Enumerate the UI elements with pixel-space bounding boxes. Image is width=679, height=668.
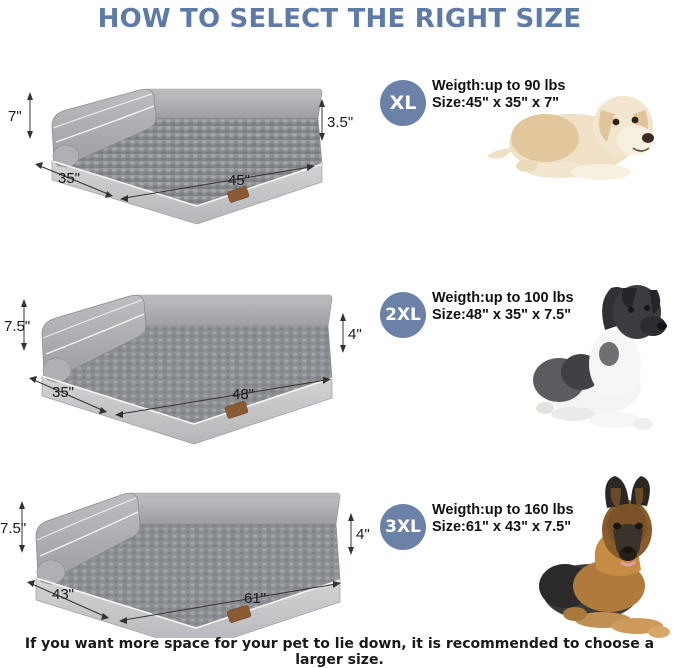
bed-diagram-3xl: 7.5" 4" 43" 61" xyxy=(0,474,372,634)
dim-height-left: 7" xyxy=(8,108,22,125)
size-spec-xl: Weigth:up to 90 lbs Size:45" x 35" x 7" xyxy=(432,78,565,112)
dimensions-text: Size:48" x 35" x 7.5" xyxy=(432,307,574,324)
bed-diagram-2xl: 7.5" 4" 35" 48" xyxy=(0,262,372,474)
bed-illustration xyxy=(14,268,354,448)
dim-width: 61" xyxy=(244,590,266,607)
dim-depth: 35" xyxy=(52,384,74,401)
size-info-2xl: 2XL Weigth:up to 100 lbs Size:48" x 35" … xyxy=(372,262,679,474)
weight-text: Weigth:up to 160 lbs xyxy=(432,502,574,519)
size-row-2xl: 7.5" 4" 35" 48" 2XL Weigth:up to xyxy=(0,262,679,474)
dim-height-left: 7.5" xyxy=(0,520,26,537)
size-info-xl: XL Weigth:up to 90 lbs Size:45" x 35" x … xyxy=(372,52,679,262)
weight-text: Weigth:up to 100 lbs xyxy=(432,290,574,307)
page-title: HOW TO SELECT THE RIGHT SIZE xyxy=(0,4,679,34)
bed-diagram-xl: 7" 3.5" 35" 45" xyxy=(0,52,372,262)
footer-note: If you want more space for your pet to l… xyxy=(0,636,679,668)
size-badge-2xl: 2XL xyxy=(380,292,426,338)
size-row-xl: 7" 3.5" 35" 45" XL Weigth:up to 9 xyxy=(0,52,679,262)
size-badge-xl: XL xyxy=(380,80,426,126)
dimensions-text: Size:61" x 43" x 7.5" xyxy=(432,519,574,536)
bed-svg xyxy=(10,478,360,638)
dim-height-right: 3.5" xyxy=(327,114,353,131)
dim-height-right: 4" xyxy=(356,526,370,543)
weight-text: Weigth:up to 90 lbs xyxy=(432,78,565,95)
size-info-3xl: 3XL Weigth:up to 160 lbs Size:61" x 43" … xyxy=(372,474,679,634)
dim-depth: 35" xyxy=(58,170,80,187)
dim-depth: 43" xyxy=(52,586,74,603)
bed-svg xyxy=(22,56,342,236)
size-row-3xl: 7.5" 4" 43" 61" 3XL Weigth:up to xyxy=(0,474,679,634)
dim-height-right: 4" xyxy=(348,326,362,343)
size-spec-3xl: Weigth:up to 160 lbs Size:61" x 43" x 7.… xyxy=(432,502,574,536)
dim-height-left: 7.5" xyxy=(4,318,30,335)
bed-illustration xyxy=(10,478,360,638)
size-badge-3xl: 3XL xyxy=(380,504,426,550)
bed-svg xyxy=(14,268,354,448)
dog-photo-german-shepherd xyxy=(531,474,679,649)
dim-width: 48" xyxy=(232,386,254,403)
dim-width: 45" xyxy=(228,172,250,189)
dimensions-text: Size:45" x 35" x 7" xyxy=(432,95,565,112)
size-spec-2xl: Weigth:up to 100 lbs Size:48" x 35" x 7.… xyxy=(432,290,574,324)
bed-illustration xyxy=(22,56,342,236)
